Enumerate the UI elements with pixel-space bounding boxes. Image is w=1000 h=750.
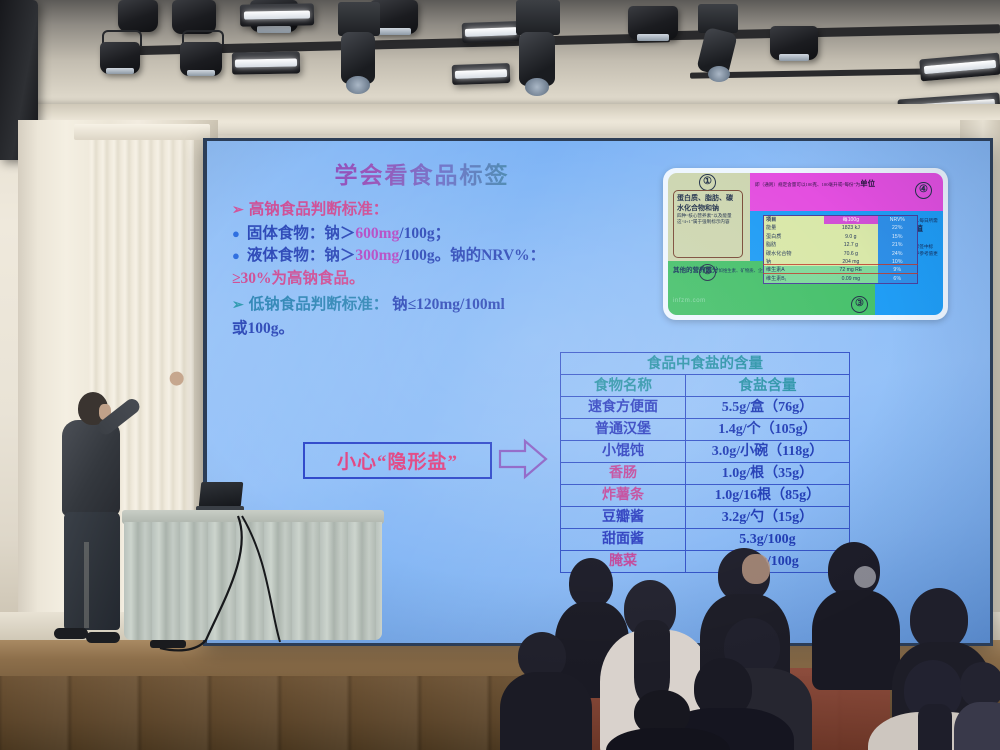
presenter-torso xyxy=(62,420,120,516)
bullet-text: 或100g。 xyxy=(232,320,294,337)
quadrant-4-number: ④ xyxy=(915,182,932,199)
presenter-laptop xyxy=(196,482,242,512)
nutrition-value: 9.0 g xyxy=(824,233,878,241)
stage-par-light xyxy=(98,30,142,76)
nutrition-header-nrv: NRV% xyxy=(878,216,918,225)
nutrition-item: 蛋白质 xyxy=(764,233,824,241)
table-row: 香肠 1.0g/根（35g） xyxy=(561,463,850,485)
bullet-text: 液体食物：钠＞ xyxy=(247,247,356,264)
bullet-line: ➢低钠食品判断标准： 钠≤120mg/100ml xyxy=(232,294,642,318)
dot-bullet-icon: ● xyxy=(232,226,247,241)
quadrant-1-sub: 四种“核心营养素”以及能量这“4+1”属于强制标示内容 xyxy=(677,213,739,225)
highlight-underline-sodium xyxy=(763,273,918,274)
nutrition-nrv: 22％ xyxy=(878,224,918,232)
nutrition-value: 0.09 mg xyxy=(824,275,878,284)
bullet-value: 300mg xyxy=(355,247,399,264)
salt-amount: 1.0g/16根（85g） xyxy=(686,485,850,507)
nutrition-nrv: 24％ xyxy=(878,250,918,258)
nutrition-header-per100g: 每100g xyxy=(824,216,878,225)
nutrition-row: 脂肪 12.7 g 21％ xyxy=(764,241,918,249)
bullet-value: 600mg xyxy=(355,225,399,242)
slide-bullet-list: ➢高钠食品判断标准： ●固体食物：钠＞600mg/100g； ●液体食物：钠＞3… xyxy=(232,199,642,340)
quadrant-4-pre: 即（通则）规定含量可以100克、100毫升或“每份”为 xyxy=(755,182,860,187)
nutrition-header-row: 项目 每100g NRV% xyxy=(764,216,918,225)
bullet-line: ●固体食物：钠＞600mg/100g； xyxy=(232,223,642,246)
table-row: 豆瓣酱 3.2g/勺（15g） xyxy=(561,507,850,529)
quadrant-2-heading: 其他的营养成分 xyxy=(673,267,719,274)
stage-spotlight xyxy=(770,26,818,72)
highlight-underline-carbs xyxy=(763,264,918,265)
quadrant-1-heading: 蛋白质、脂肪、碳水化合物和钠 xyxy=(677,194,739,213)
bullet-unit: /100g； xyxy=(399,225,450,242)
bullet-text: 高钠食品判断标准： xyxy=(249,201,389,218)
table-header-amount: 食盐含量 xyxy=(686,375,850,397)
salt-amount: 1.4g/个（105g） xyxy=(686,419,850,441)
audience xyxy=(0,540,1000,750)
table-row: 普通汉堡 1.4g/个（105g） xyxy=(561,419,850,441)
food-name: 小馄饨 xyxy=(561,441,686,463)
bullet-line: 或100g。 xyxy=(232,318,642,341)
stage-strip-light xyxy=(462,21,521,43)
nutrition-row: 维生素B₁ 0.09 mg 6％ xyxy=(764,275,918,284)
audience-member xyxy=(500,632,590,750)
food-name: 普通汉堡 xyxy=(561,419,686,441)
nutrition-value: 1823 kJ xyxy=(824,224,878,232)
salt-amount: 3.0g/小碗（118g） xyxy=(686,441,850,463)
auditorium-photo: 学会看食品标签 ➢高钠食品判断标准： ●固体食物：钠＞600mg/100g； ●… xyxy=(0,0,1000,750)
stage-par-light xyxy=(178,30,224,78)
bullet-line: ➢高钠食品判断标准： xyxy=(232,199,642,223)
quadrant-4-text: 即（通则）规定含量可以100克、100毫升或“每份”为单位 xyxy=(755,180,905,188)
slide-title: 学会看食品标签 xyxy=(312,156,532,190)
bullet-line: ●液体食物：钠＞300mg/100g。钠的NRV%： xyxy=(232,245,642,268)
table-header-food: 食物名称 xyxy=(561,375,686,397)
bullet-text: ≥30%为高钠食品。 xyxy=(232,270,365,287)
callout-label: 小心“隐形盐” xyxy=(337,447,458,474)
bullet-text: 固体食物：钠＞ xyxy=(247,225,356,242)
laptop-lid xyxy=(199,482,244,507)
salt-amount: 3.2g/勺（15g） xyxy=(686,507,850,529)
table-row: 速食方便面 5.5g/盒（76g） xyxy=(561,397,850,419)
food-name: 豆瓣酱 xyxy=(561,507,686,529)
table-header-row: 食物名称 食盐含量 xyxy=(561,375,850,397)
nutrition-value: 70.6 g xyxy=(824,250,878,258)
moving-head-light xyxy=(516,0,560,104)
nutrition-item: 维生素B₁ xyxy=(764,275,824,284)
nutrition-item: 脂肪 xyxy=(764,241,824,249)
table-row: 小馄饨 3.0g/小碗（118g） xyxy=(561,441,850,463)
audience-member xyxy=(954,662,1000,750)
nutrition-header-item: 项目 xyxy=(764,216,824,225)
salt-amount: 1.0g/根（35g） xyxy=(686,463,850,485)
table-row: 炸薯条 1.0g/16根（85g） xyxy=(561,485,850,507)
stage-strip-light xyxy=(452,63,511,85)
bullet-line: ≥30%为高钠食品。 xyxy=(232,268,642,291)
nutrition-nrv: 6％ xyxy=(878,275,918,284)
quadrant-4-heading: 单位 xyxy=(860,179,875,188)
bullet-value: 钠≤120mg/100ml xyxy=(388,296,505,313)
audience-member xyxy=(606,690,726,750)
food-name: 炸薯条 xyxy=(561,485,686,507)
nutrition-row: 碳水化合物 70.6 g 24％ xyxy=(764,250,918,258)
stage-strip-light xyxy=(232,51,300,74)
food-name: 速食方便面 xyxy=(561,397,686,419)
moving-head-light xyxy=(698,4,738,90)
bullet-unit: /100g。钠的NRV%： xyxy=(399,247,545,264)
moving-head-light xyxy=(338,2,380,102)
arrow-bullet-icon: ➢ xyxy=(232,298,249,313)
table-title-row: 食品中食盐的含量 xyxy=(561,353,850,375)
salt-amount: 5.5g/盒（76g） xyxy=(686,397,850,419)
dot-bullet-icon: ● xyxy=(232,248,247,263)
nutrition-row: 能量 1823 kJ 22％ xyxy=(764,224,918,232)
nutrition-value: 12.7 g xyxy=(824,241,878,249)
right-arrow-icon xyxy=(498,438,548,480)
quadrant-4-background xyxy=(750,173,943,211)
nutrition-item: 碳水化合物 xyxy=(764,250,824,258)
nutrition-item: 能量 xyxy=(764,224,824,232)
nutrition-nrv: 15％ xyxy=(878,233,918,241)
quadrant-1-number: ① xyxy=(699,174,716,191)
quadrant-1-box: 蛋白质、脂肪、碳水化合物和钠 四种“核心营养素”以及能量这“4+1”属于强制标示… xyxy=(673,190,743,258)
bullet-text: 低钠食品判断标准： xyxy=(249,296,389,313)
quadrant-3-number: ③ xyxy=(851,296,868,313)
nutrition-label-diagram: ① ② ③ ④ 蛋白质、脂肪、碳水化合物和钠 四种“核心营养素”以及能量这“4+… xyxy=(663,168,948,320)
stage-strip-light xyxy=(240,3,314,26)
table-title: 食品中食盐的含量 xyxy=(561,353,850,375)
source-watermark: infzm.com xyxy=(673,298,706,304)
nutrition-row: 蛋白质 9.0 g 15％ xyxy=(764,233,918,241)
food-name: 香肠 xyxy=(561,463,686,485)
nutrition-nrv: 21％ xyxy=(878,241,918,249)
arrow-bullet-icon: ➢ xyxy=(232,203,249,218)
stage-spotlight xyxy=(628,6,678,52)
hidden-salt-callout: 小心“隐形盐” xyxy=(303,442,492,479)
column-capital xyxy=(74,124,210,140)
